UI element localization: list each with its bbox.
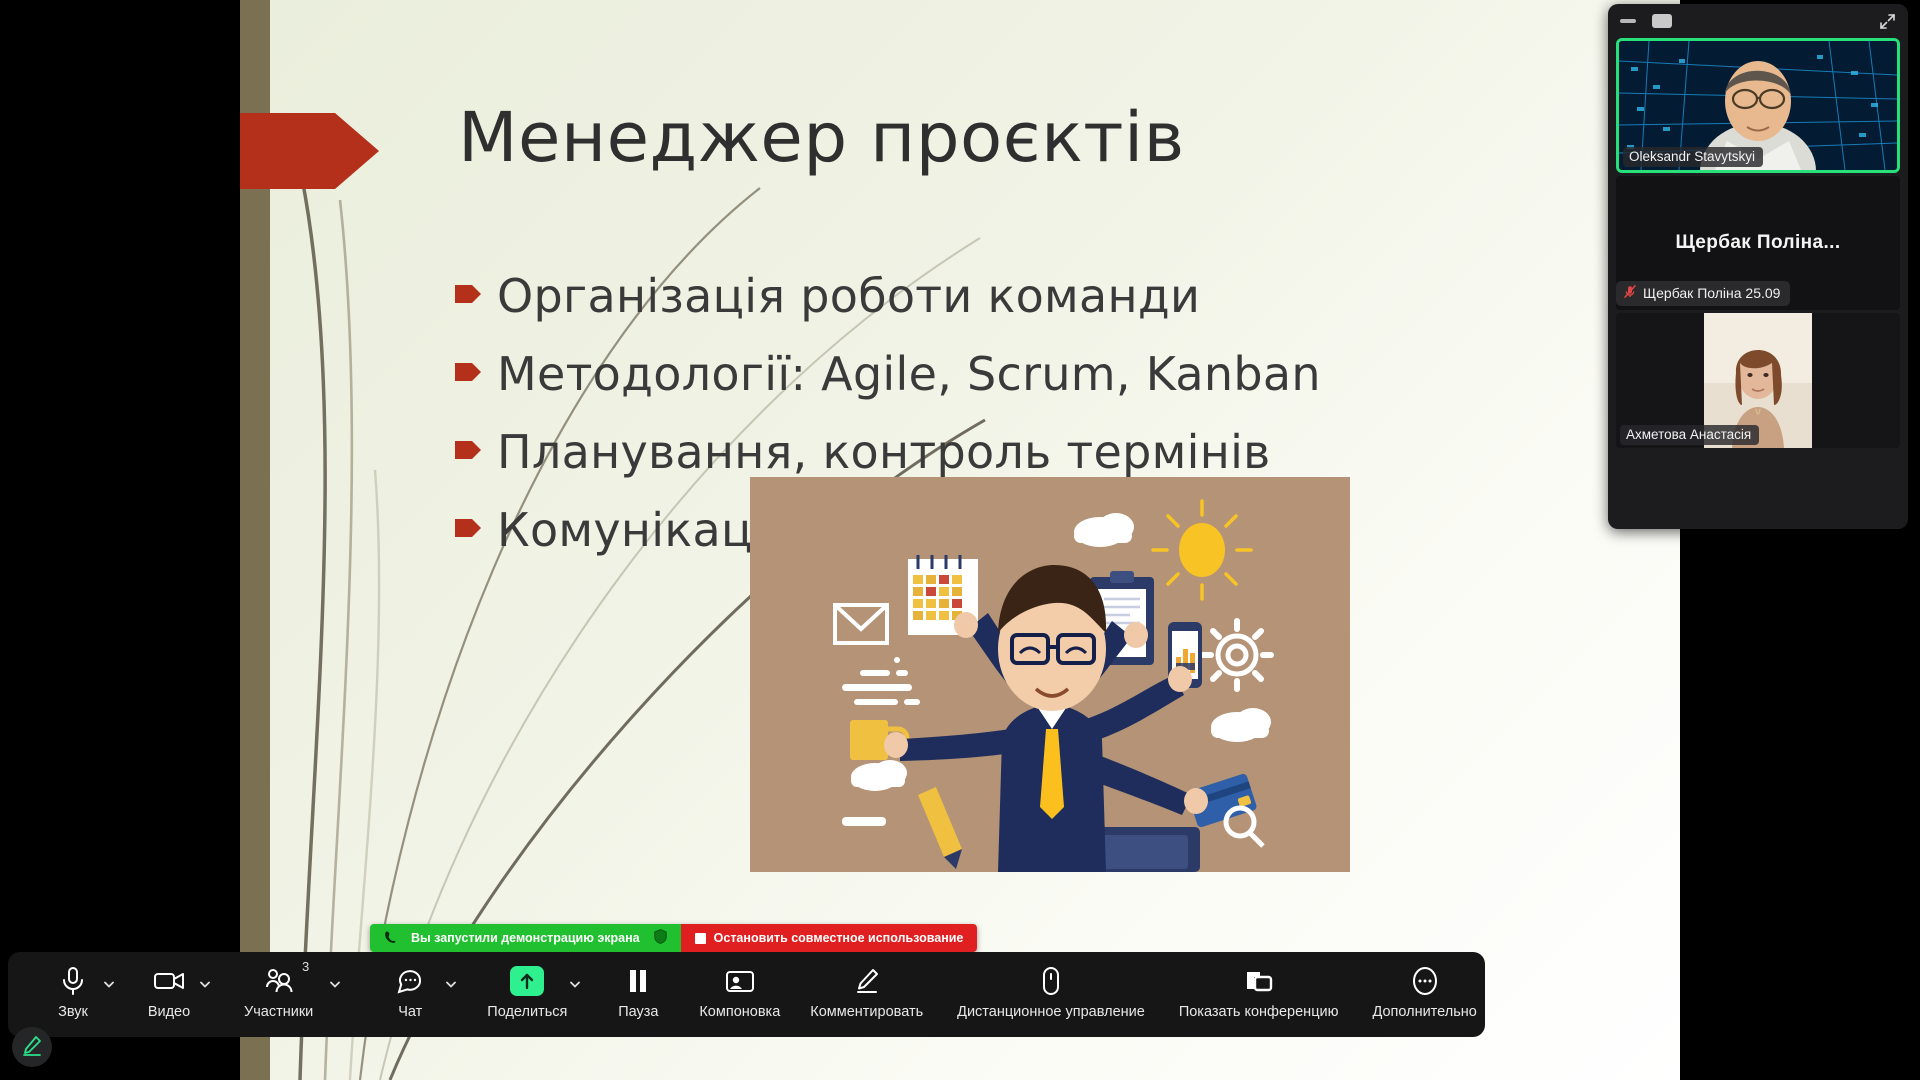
chevron-down-icon[interactable]: [329, 977, 341, 989]
microphone-icon: [60, 961, 86, 1001]
bullet-marker-icon: [455, 361, 497, 388]
panel-layout-controls: [1608, 4, 1908, 38]
pause-icon: [627, 961, 649, 1001]
chat-icon: [396, 961, 424, 1001]
toolbar-button-show-meeting[interactable]: Показать конференцию: [1173, 961, 1345, 1020]
split-view-icon[interactable]: [1688, 13, 1708, 29]
bullet-text: Організація роботи команди: [497, 269, 1200, 323]
toolbar-button-pause[interactable]: Пауза: [607, 961, 669, 1020]
toolbar-label: Участники: [244, 1004, 313, 1020]
toolbar-label: Видео: [148, 1004, 190, 1020]
slide-illustration: [750, 477, 1350, 872]
bullet-marker-icon: [455, 283, 497, 310]
list-item: Методології: Agile, Scrum, Kanban: [455, 335, 1455, 413]
chevron-down-icon[interactable]: [569, 977, 581, 989]
screen-share-meeting-window: Менеджер проєктів Організація роботи ком…: [0, 0, 1920, 1080]
minimize-icon[interactable]: [1620, 19, 1636, 23]
screen-share-banner: Вы запустили демонстрацию экрана Останов…: [370, 924, 977, 952]
toolbar-label: Пауза: [618, 1004, 658, 1020]
share-status-text: Вы запустили демонстрацию экрана: [411, 931, 640, 945]
toolbar-label: Звук: [58, 1004, 88, 1020]
toolbar-label: Чат: [398, 1004, 422, 1020]
toolbar-button-audio[interactable]: Звук: [42, 961, 104, 1020]
toolbar-button-annotate[interactable]: Комментировать: [804, 961, 929, 1020]
share-status-bar: Вы запустили демонстрацию экрана: [370, 924, 681, 952]
annotate-pencil-icon: [21, 1034, 43, 1061]
toolbar-label: Компоновка: [699, 1004, 780, 1020]
participants-count-badge: 3: [302, 959, 309, 974]
share-screen-icon: [510, 961, 544, 1001]
participant-name-label-1: Oleksandr Stavytskyi: [1623, 147, 1763, 167]
more-dots-icon: [1411, 961, 1439, 1001]
bullet-marker-icon: [455, 439, 497, 466]
participant-name-label-2: Щербак Поліна 25.09: [1616, 281, 1790, 306]
participant-name-label-3: Ахметова Анастасія: [1620, 425, 1759, 445]
remote-control-icon: [1041, 961, 1061, 1001]
stop-square-icon: [695, 933, 706, 944]
bullet-text: Планування, контроль термінів: [497, 425, 1271, 479]
annotate-floating-button[interactable]: [12, 1027, 52, 1067]
stop-share-label: Остановить совместное использование: [714, 931, 964, 945]
toolbar-label: Поделиться: [487, 1004, 567, 1020]
show-meeting-icon: [1244, 961, 1274, 1001]
chevron-down-icon[interactable]: [199, 977, 211, 989]
slide-title: Менеджер проєктів: [458, 98, 1185, 178]
toolbar-button-share[interactable]: Поделиться: [481, 961, 573, 1020]
bullet-text: Методології: Agile, Scrum, Kanban: [497, 347, 1321, 401]
camera-icon: [153, 961, 185, 1001]
chevron-down-icon[interactable]: [103, 977, 115, 989]
toolbar-label: Комментировать: [810, 1004, 923, 1020]
toolbar-button-chat[interactable]: Чат: [379, 961, 441, 1020]
toolbar-button-remote-control[interactable]: Дистанционное управление: [951, 961, 1151, 1020]
toolbar-button-layout[interactable]: Компоновка: [693, 961, 786, 1020]
gallery-view-icon[interactable]: [1724, 12, 1742, 30]
toolbar-label: Дистанционное управление: [957, 1004, 1145, 1020]
bullet-marker-icon: [455, 517, 497, 544]
shield-icon: [654, 929, 667, 947]
phone-icon: [384, 930, 397, 947]
annotate-pencil-icon: [854, 961, 880, 1001]
toolbar-label: Дополнительно: [1372, 1004, 1476, 1020]
list-item: Організація роботи команди: [455, 257, 1455, 335]
chevron-down-icon[interactable]: [445, 977, 457, 989]
participant-tile-1[interactable]: Oleksandr Stavytskyi: [1616, 38, 1900, 173]
toolbar-label: Показать конференцию: [1179, 1004, 1339, 1020]
mic-muted-icon: [1623, 284, 1637, 302]
participants-icon: [264, 961, 294, 1001]
participant-tile-3[interactable]: Ахметова Анастасія: [1616, 313, 1900, 448]
participant-video-panel: Oleksandr Stavytskyi Щербак Поліна... Ще…: [1608, 4, 1908, 529]
title-arrow-shape: [240, 113, 379, 189]
layout-icon: [725, 961, 755, 1001]
toolbar-button-video[interactable]: Видео: [138, 961, 200, 1020]
shared-slide: Менеджер проєктів Організація роботи ком…: [240, 0, 1680, 1080]
stop-share-button[interactable]: Остановить совместное использование: [681, 924, 978, 952]
meeting-toolbar: Звук Видео 3: [8, 952, 1485, 1037]
expand-icon[interactable]: [1879, 13, 1896, 30]
single-view-icon[interactable]: [1652, 14, 1672, 28]
toolbar-button-more[interactable]: Дополнительно: [1366, 961, 1482, 1020]
toolbar-button-participants[interactable]: 3 Участники: [238, 961, 319, 1020]
